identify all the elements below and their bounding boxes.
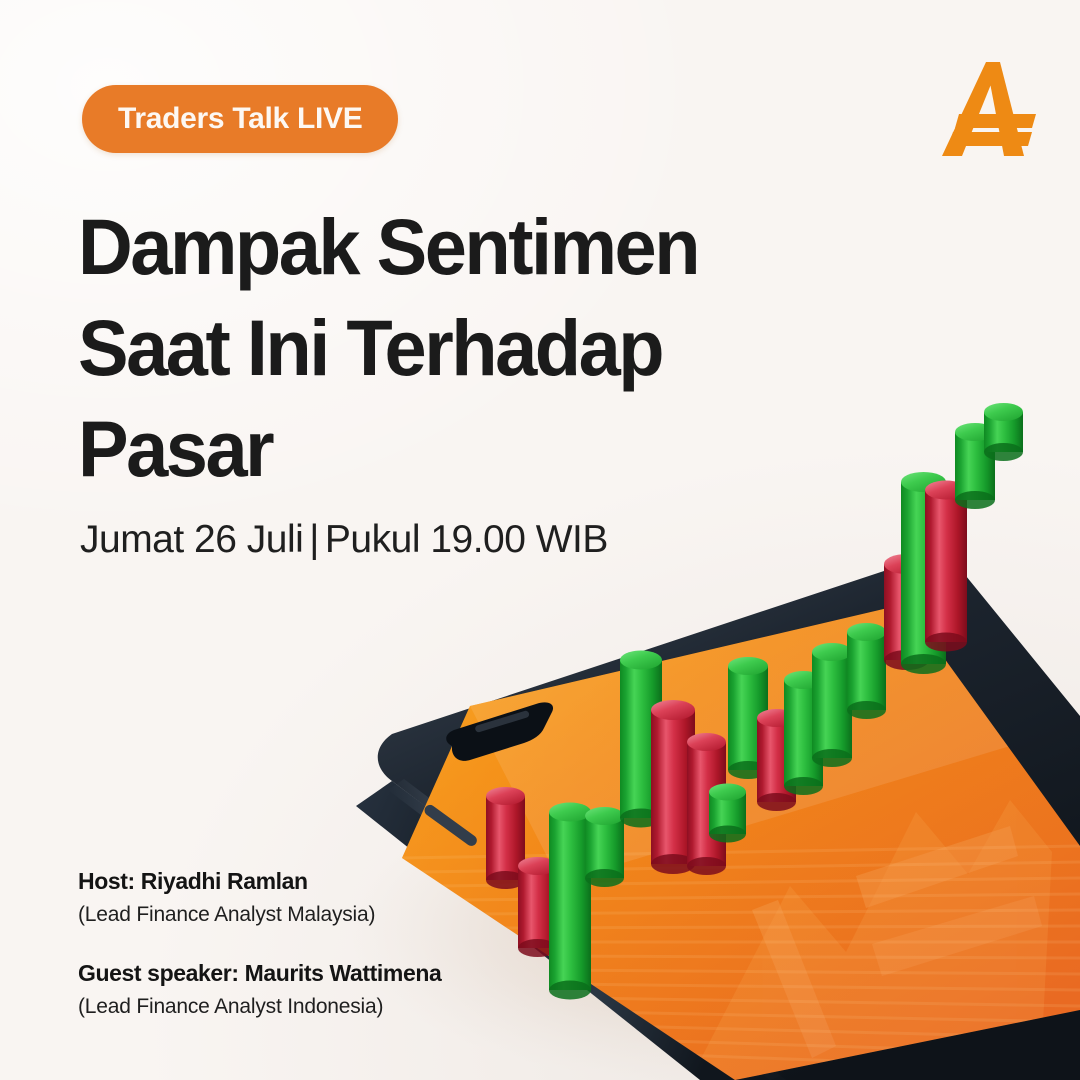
live-badge-label: Traders Talk LIVE [118,102,362,136]
candle-13 [847,594,886,842]
candle-9 [728,570,768,882]
brand-logo-a-icon[interactable] [932,56,1042,162]
screen-gloss [470,604,1010,882]
headline-line-1: Dampak Sentimen [78,196,808,297]
candle-5 [620,632,662,930]
candle-11 [784,648,823,898]
credit-host-name: Host: Riyadhi Ramlan [78,866,598,896]
phone-side-button [422,803,479,848]
candle-8 [709,738,746,922]
page-title: Dampak Sentimen Saat Ini Terhadap Pasar [78,196,838,499]
candle-14 [884,504,929,788]
credit-guest: Guest speaker: Maurits Wattimena (Lead F… [78,958,598,1022]
headline-line-3: Pasar [78,398,808,499]
candle-12 [812,542,852,870]
candle-15 [901,444,946,760]
phone-earpiece [474,710,530,733]
credit-guest-role: (Lead Finance Analyst Indonesia) [78,992,598,1022]
credit-host-role: (Lead Finance Analyst Malaysia) [78,900,598,930]
schedule-line: Jumat 26 Juli|Pukul 19.00 WIB [80,514,608,566]
candle-18 [984,372,1023,520]
credits-block: Host: Riyadhi Ramlan (Lead Finance Analy… [78,866,598,1022]
poster-canvas: Traders Talk LIVE Dampak Sentimen Saat I… [0,0,1080,1080]
candle-6 [651,672,695,960]
candle-16 [925,424,967,684]
credit-host: Host: Riyadhi Ramlan (Lead Finance Analy… [78,866,598,930]
live-badge[interactable]: Traders Talk LIVE [82,85,398,153]
schedule-time: Pukul 19.00 WIB [325,518,608,561]
candle-7 [687,700,726,962]
candle-17 [955,372,995,632]
headline-line-2: Saat Ini Terhadap [78,297,808,398]
schedule-separator: | [303,518,325,561]
credit-guest-name: Guest speaker: Maurits Wattimena [78,958,598,988]
candle-10 [757,634,796,898]
screen-arrow-motif [690,800,1052,1080]
phone-notch [446,702,553,760]
schedule-date: Jumat 26 Juli [80,518,303,561]
